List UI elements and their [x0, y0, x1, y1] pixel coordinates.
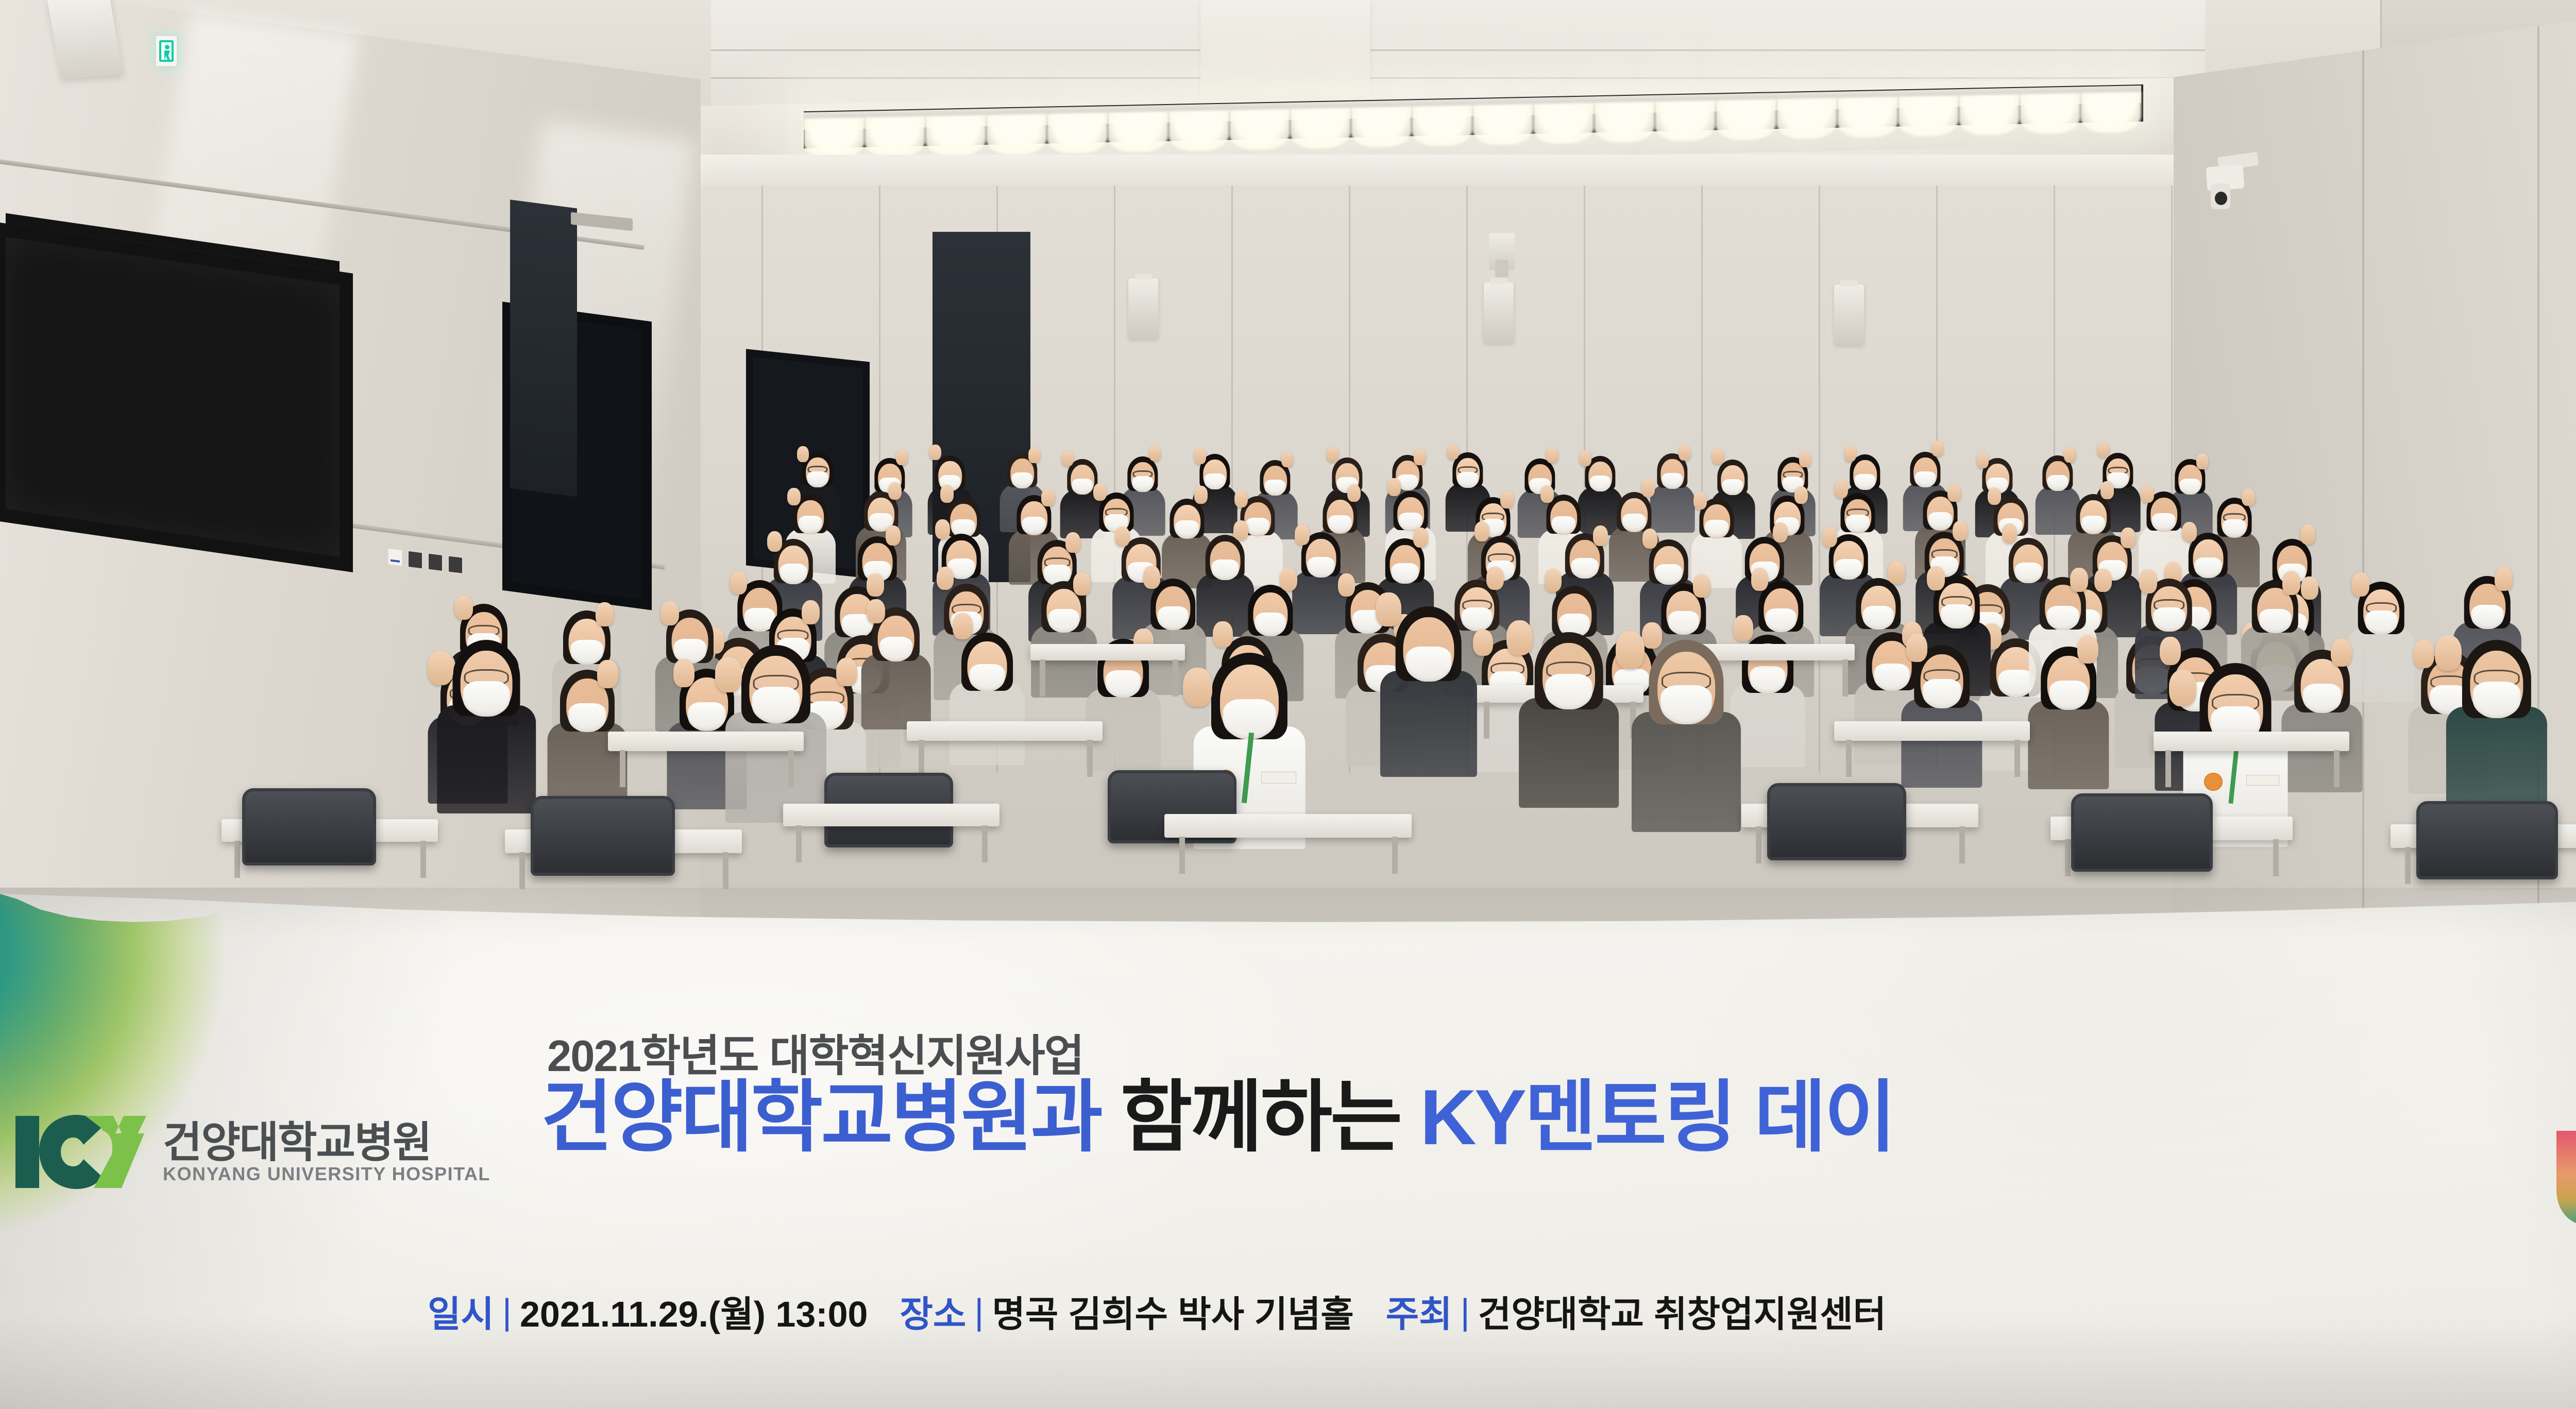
info-label-host: 주최: [1386, 1285, 1452, 1337]
finger-heart-gesture: [2300, 524, 2315, 545]
desk-leg: [1842, 659, 1848, 697]
face-mask: [688, 702, 725, 731]
face-mask: [1048, 609, 1079, 633]
desk-leg: [2065, 839, 2071, 876]
finger-heart-gesture: [1835, 480, 1848, 498]
finger-heart-gesture: [1506, 620, 1533, 655]
face-mask: [568, 703, 606, 732]
light-bulb: [1168, 110, 1229, 151]
face-mask: [1392, 563, 1419, 584]
finger-heart-gesture: [1194, 486, 1208, 503]
finger-heart-gesture: [2182, 522, 2197, 542]
finger-heart-gesture: [1234, 490, 1248, 507]
light-bulb: [2020, 93, 2080, 134]
audience-person: [2286, 651, 2358, 801]
info-separator: |: [494, 1291, 520, 1332]
wall-speaker: [1484, 282, 1514, 343]
desk-leg: [1846, 740, 1852, 777]
desk-leg: [1756, 826, 1761, 863]
face-mask: [1914, 471, 1936, 487]
banner-title-part-1: 건양대학교병원과: [541, 1078, 1101, 1157]
face-mask: [2259, 609, 2292, 634]
ceiling-seam: [711, 77, 2205, 79]
desk-leg: [2334, 750, 2340, 787]
face-mask: [2303, 684, 2342, 713]
finger-heart-gesture: [1844, 446, 1856, 462]
main-projection-screen: [0, 222, 353, 572]
desk-leg: [1392, 837, 1398, 874]
person-torso: [1650, 484, 1695, 533]
person-torso: [437, 705, 536, 813]
finger-heart-gesture: [1233, 520, 1248, 540]
face-mask: [1863, 606, 1894, 630]
desk-leg: [2165, 750, 2171, 787]
desk-leg: [420, 841, 426, 878]
finger-heart-gesture: [1546, 448, 1558, 463]
finger-heart-gesture: [1376, 592, 1401, 626]
back-wall-header: [644, 155, 2236, 185]
light-bulb: [804, 117, 865, 159]
info-separator: |: [1452, 1291, 1478, 1332]
finger-heart-gesture: [1794, 486, 1808, 504]
face-mask: [1072, 479, 1093, 495]
finger-heart-gesture: [1347, 484, 1361, 502]
desk-leg: [1040, 659, 1045, 697]
chair: [242, 788, 376, 865]
chair: [2416, 801, 2558, 879]
desk-leg: [1959, 826, 1965, 863]
finger-heart-gesture: [2435, 635, 2462, 671]
desk: [1164, 814, 1412, 838]
finger-heart-gesture: [1213, 621, 1232, 648]
finger-heart-gesture: [1073, 572, 1091, 596]
light-bulb: [2080, 92, 2141, 133]
finger-heart-gesture: [2331, 638, 2352, 667]
face-mask: [1923, 679, 1961, 708]
light-bulb: [1290, 108, 1351, 149]
desk: [1030, 644, 1185, 660]
finger-heart-gesture: [597, 660, 618, 688]
info-label-date: 일시: [428, 1285, 494, 1337]
audience-person: [2452, 641, 2541, 827]
face-mask: [1589, 476, 1611, 491]
light-bulb: [1533, 103, 1594, 144]
banner-info-host: 주최 | 건양대학교 취창업지원센터: [1386, 1285, 1886, 1337]
finger-heart-gesture: [767, 531, 782, 551]
face-mask: [1874, 664, 1909, 691]
finger-heart-gesture: [1927, 566, 1945, 590]
finger-heart-gesture: [1473, 630, 1493, 656]
finger-heart-gesture: [1475, 521, 1489, 541]
person-torso: [1519, 698, 1619, 808]
info-value-place: 명곡 김희수 박사 기념홀: [992, 1285, 1353, 1337]
banner-title: 건양대학교병원과 함께하는 KY멘토링 데이: [541, 1078, 1894, 1157]
light-bulb: [986, 114, 1047, 155]
face-mask: [879, 637, 912, 661]
face-mask: [1835, 559, 1862, 580]
face-mask: [2473, 682, 2521, 718]
desk-leg: [2014, 740, 2020, 777]
finger-heart-gesture: [1065, 532, 1080, 552]
info-label-place: 장소: [900, 1285, 966, 1337]
finger-heart-gesture: [940, 485, 954, 502]
person-torso: [1632, 712, 1741, 832]
face-mask: [2365, 610, 2398, 635]
finger-heart-gesture: [953, 613, 972, 639]
info-separator: |: [966, 1291, 992, 1332]
light-bulb: [1594, 101, 1655, 143]
finger-heart-gesture: [2139, 569, 2157, 593]
finger-heart-gesture: [787, 488, 801, 505]
light-bulb: [1655, 100, 1716, 142]
face-mask: [1011, 472, 1032, 488]
face-mask: [1750, 666, 1785, 693]
face-mask: [2047, 606, 2079, 631]
desk-leg: [519, 852, 525, 889]
finger-heart-gesture: [1183, 668, 1212, 707]
finger-heart-gesture: [867, 599, 885, 623]
audience-person: [954, 634, 1020, 773]
light-bulb: [1047, 112, 1108, 154]
finger-heart-gesture: [2282, 571, 2300, 595]
finger-heart-gesture: [2121, 528, 2136, 548]
light-bulb: [1412, 105, 1472, 146]
face-mask: [1212, 559, 1239, 580]
finger-heart-gesture: [454, 596, 472, 620]
finger-heart-gesture: [937, 567, 954, 590]
face-mask: [2195, 557, 2222, 578]
finger-heart-gesture: [1194, 448, 1206, 464]
finger-heart-gesture: [673, 659, 694, 687]
face-mask: [1662, 473, 1683, 489]
finger-heart-gesture: [1947, 484, 1961, 502]
finger-heart-gesture: [1931, 441, 1943, 456]
person-torso: [1901, 699, 1982, 788]
audience-person: [1638, 641, 1734, 843]
konyang-hospital-logo: 건양대학교병원 KONYANG UNIVERSITY HOSPITAL: [11, 1113, 490, 1191]
finger-heart-gesture: [1149, 446, 1161, 461]
chair: [1767, 783, 1906, 860]
emergency-exit-icon: [155, 35, 178, 67]
finger-heart-gesture: [1387, 478, 1401, 496]
name-tag: [2246, 775, 2279, 786]
ui-mark-icon: [2553, 1102, 2576, 1231]
finger-heart-gesture: [1906, 634, 1927, 662]
university-innovation-logo: University Innovation 대학혁신 지원사업: [2553, 1093, 2576, 1242]
finger-heart-gesture: [1693, 492, 1707, 510]
finger-heart-gesture: [1413, 528, 1428, 548]
projector: [1489, 233, 1515, 270]
face-mask: [2179, 479, 2200, 495]
finger-heart-gesture: [1733, 615, 1753, 641]
finger-heart-gesture: [2077, 635, 2098, 664]
face-mask: [2049, 681, 2088, 710]
desk-leg: [234, 841, 240, 878]
light-bulb: [1351, 106, 1412, 147]
finger-heart-gesture: [1041, 489, 1055, 506]
finger-heart-gesture: [1545, 569, 1562, 592]
light-bulb: [1837, 96, 1898, 138]
finger-heart-gesture: [1977, 452, 1989, 468]
face-mask: [1204, 473, 1225, 489]
photo-canvas: 건양대학교병원 KONYANG UNIVERSITY HOSPITAL 2021…: [0, 0, 2576, 1409]
finger-heart-gesture: [1486, 567, 1504, 590]
finger-heart-gesture: [715, 657, 742, 692]
finger-heart-gesture: [1028, 447, 1040, 463]
finger-heart-gesture: [2070, 568, 2088, 591]
face-mask: [463, 681, 510, 717]
finger-heart-gesture: [1281, 452, 1293, 467]
face-mask: [752, 687, 800, 723]
audience-person: [443, 641, 530, 823]
finger-heart-gesture: [836, 658, 857, 686]
finger-heart-gesture: [1641, 479, 1655, 497]
desk-leg: [788, 750, 794, 787]
desk-leg: [1484, 702, 1489, 739]
face-mask: [969, 664, 1005, 691]
finger-heart-gesture: [1414, 449, 1426, 465]
finger-heart-gesture: [1540, 485, 1554, 503]
audience-person: [1653, 455, 1692, 537]
finger-heart-gesture: [2094, 569, 2112, 592]
finger-heart-gesture: [1988, 487, 2001, 505]
chair: [2071, 793, 2213, 872]
finger-heart-gesture: [1338, 573, 1355, 597]
door[interactable]: [510, 199, 577, 497]
hospital-name-english: KONYANG UNIVERSITY HOSPITAL: [163, 1165, 490, 1183]
name-tag: [1261, 772, 1296, 784]
face-mask: [1854, 474, 1875, 490]
face-mask: [1405, 647, 1451, 682]
finger-heart-gesture: [1580, 450, 1591, 466]
audience-person: [1090, 640, 1156, 779]
finger-heart-gesture: [428, 651, 453, 685]
desk-leg: [1087, 740, 1093, 777]
finger-heart-gesture: [929, 445, 941, 460]
light-bulb: [1716, 99, 1776, 140]
audience-person: [1525, 634, 1613, 818]
face-mask: [1132, 476, 1153, 492]
hospital-name-korean: 건양대학교병원: [163, 1121, 490, 1164]
face-mask: [1255, 613, 1286, 636]
light-bulb: [865, 116, 925, 157]
person-torso: [1380, 671, 1477, 777]
finger-heart-gesture: [797, 446, 809, 462]
event-banner: 건양대학교병원 KONYANG UNIVERSITY HOSPITAL 2021…: [0, 888, 2576, 1409]
finger-heart-gesture: [1822, 527, 1837, 547]
face-mask: [1158, 606, 1189, 630]
face-mask: [1457, 472, 1478, 488]
desk-leg: [2273, 839, 2279, 876]
finger-heart-gesture: [1280, 568, 1297, 591]
desk: [783, 804, 999, 826]
desk: [2154, 732, 2349, 751]
desk-leg: [919, 740, 924, 777]
finger-heart-gesture: [2495, 567, 2513, 590]
finger-heart-gesture: [1712, 449, 1724, 464]
face-mask: [1264, 480, 1285, 496]
finger-heart-gesture: [596, 602, 614, 626]
finger-heart-gesture: [1773, 522, 1788, 542]
desk-leg: [620, 750, 625, 787]
finger-heart-gesture: [1062, 451, 1074, 466]
face-mask: [1308, 557, 1335, 578]
desk: [907, 721, 1103, 741]
banner-info-place: 장소 | 명곡 김희수 박사 기념홀: [900, 1285, 1353, 1337]
finger-heart-gesture: [2169, 670, 2196, 706]
finger-heart-gesture: [1616, 631, 1645, 669]
finger-heart-gesture: [2351, 572, 2369, 596]
finger-heart-gesture: [802, 600, 820, 624]
finger-heart-gesture: [1642, 529, 1657, 549]
finger-heart-gesture: [1751, 568, 1769, 591]
finger-heart-gesture: [1888, 561, 1905, 584]
finger-heart-gesture: [1799, 451, 1811, 467]
face-mask: [807, 471, 828, 487]
light-bulb: [925, 115, 986, 156]
finger-heart-gesture: [2097, 442, 2109, 457]
banner-title-part-2: 함께하는: [1121, 1078, 1400, 1157]
desk-leg: [2405, 847, 2411, 884]
desk-leg: [796, 825, 802, 862]
finger-heart-gesture: [1693, 574, 1710, 598]
face-mask: [1545, 674, 1592, 710]
light-bulb: [1959, 94, 2020, 135]
finger-heart-gesture: [2413, 640, 2434, 668]
finger-heart-gesture: [1593, 525, 1608, 546]
finger-heart-gesture: [1679, 445, 1690, 461]
finger-heart-gesture: [2242, 488, 2255, 506]
desk-leg: [1179, 837, 1185, 874]
desk-leg: [982, 825, 988, 862]
audience-person: [866, 609, 926, 737]
ky-mark-icon: [11, 1113, 149, 1191]
face-mask: [1655, 564, 1683, 585]
finger-heart-gesture: [2100, 481, 2114, 499]
event-badge: [2204, 773, 2223, 791]
person-torso: [1730, 685, 1805, 767]
chair: [531, 796, 675, 876]
finger-heart-gesture: [1143, 566, 1161, 589]
face-mask: [2471, 605, 2504, 630]
light-bulb: [1472, 104, 1533, 145]
info-value-host: 건양대학교 취창업지원센터: [1478, 1285, 1886, 1337]
finger-heart-gesture: [2196, 453, 2208, 469]
finger-heart-gesture: [2064, 447, 2076, 463]
finger-heart-gesture: [1295, 524, 1310, 545]
desk-leg: [723, 852, 728, 889]
wall-speaker: [1128, 278, 1158, 339]
audience-person: [2033, 648, 2104, 797]
desk: [608, 732, 804, 751]
finger-heart-gesture: [2002, 523, 2017, 544]
face-mask: [1668, 611, 1699, 635]
finger-heart-gesture: [1953, 521, 1968, 541]
finger-heart-gesture: [1115, 527, 1130, 547]
finger-heart-gesture: [1093, 483, 1107, 501]
face-mask: [1766, 608, 1797, 632]
finger-heart-gesture: [888, 482, 902, 500]
person-torso: [2028, 701, 2109, 790]
finger-heart-gesture: [2141, 485, 2154, 503]
audience-person: [2351, 583, 2411, 709]
desk: [1834, 721, 2030, 741]
finger-heart-gesture: [1447, 444, 1459, 460]
face-mask: [1571, 558, 1599, 579]
finger-heart-gesture: [1327, 447, 1338, 462]
desk-leg: [1173, 659, 1178, 697]
light-bulb: [1229, 109, 1290, 150]
face-mask: [2153, 607, 2185, 632]
finger-heart-gesture: [730, 571, 748, 595]
face-mask: [2047, 475, 2068, 491]
wall-panel-seam: [1819, 155, 1820, 773]
wall-speaker: [1834, 284, 1864, 345]
info-value-date: 2021.11.29.(월) 13:00: [520, 1285, 868, 1337]
face-mask: [1105, 670, 1141, 698]
finger-heart-gesture: [886, 525, 901, 546]
face-mask: [570, 640, 603, 665]
face-mask: [780, 564, 807, 584]
finger-heart-gesture: [1500, 491, 1514, 508]
finger-heart-gesture: [660, 601, 679, 625]
person-torso: [861, 654, 931, 730]
face-mask: [1722, 479, 1743, 495]
banner-info-line: 일시 | 2021.11.29.(월) 13:00 장소 | 명곡 김희수 박사…: [428, 1285, 1886, 1337]
banner-title-part-3: KY멘토링 데이: [1420, 1078, 1894, 1157]
audience-person: [1386, 608, 1471, 787]
light-bulb: [1776, 98, 1837, 139]
ceiling-seam: [711, 49, 2205, 51]
finger-heart-gesture: [896, 450, 908, 465]
finger-heart-gesture: [2160, 637, 2181, 665]
banner-info-date: 일시 | 2021.11.29.(월) 13:00: [428, 1285, 868, 1337]
light-bulb: [1898, 95, 1959, 137]
finger-heart-gesture: [935, 519, 950, 539]
light-bulb: [1108, 111, 1168, 152]
face-mask: [1941, 604, 1973, 629]
finger-heart-gesture: [867, 573, 884, 597]
